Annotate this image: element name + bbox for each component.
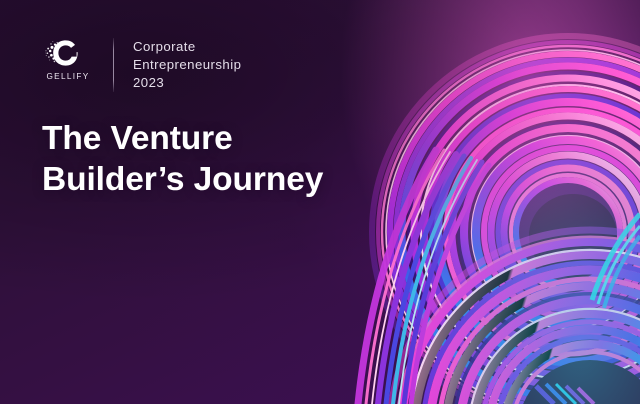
brand-logo: GELLIFY: [42, 36, 94, 81]
event-subtitle-line-2: Entrepreneurship: [133, 56, 241, 74]
brand-wordmark: GELLIFY: [46, 73, 89, 81]
gellify-particle-g-icon: [45, 37, 91, 69]
slide-title: The Venture Builder’s Journey: [42, 118, 323, 200]
event-subtitle: Corporate Entrepreneurship 2023: [133, 38, 241, 93]
slide-title-line-1: The Venture: [42, 118, 323, 159]
event-subtitle-year: 2023: [133, 74, 241, 92]
abstract-swirl-torus-graphic: [340, 0, 640, 404]
slide-header: GELLIFY Corporate Entrepreneurship 2023: [42, 36, 241, 93]
header-divider: [113, 38, 114, 92]
presentation-slide: GELLIFY Corporate Entrepreneurship 2023 …: [0, 0, 640, 404]
event-subtitle-line-1: Corporate: [133, 38, 241, 56]
slide-title-line-2: Builder’s Journey: [42, 159, 323, 200]
